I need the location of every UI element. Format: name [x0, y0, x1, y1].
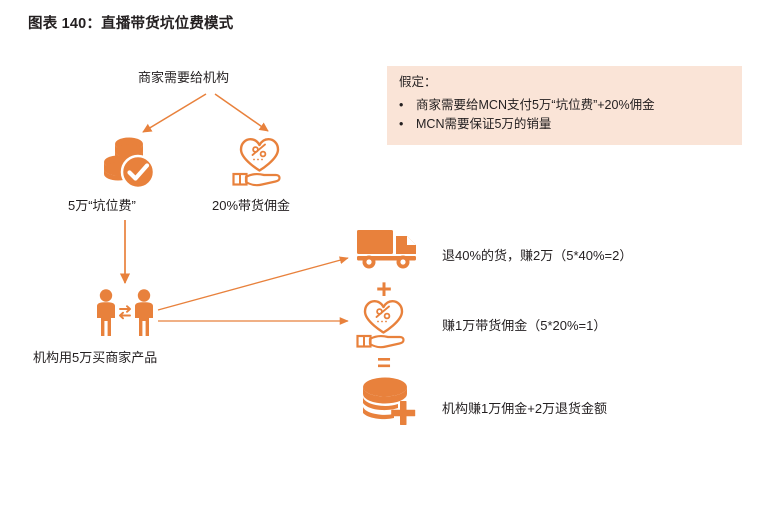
- source-label: 商家需要给机构: [138, 70, 229, 86]
- arrow-agency-to-returns: [158, 258, 348, 310]
- diagram-canvas: 商家需要给机构 5万“坑位费”: [0, 0, 773, 507]
- agency-node-label: 机构用5万买商家产品: [33, 350, 157, 366]
- bullet-icon: •: [399, 116, 416, 133]
- assumption-list-item: • 商家需要给MCN支付5万“坑位费”+20%佣金: [399, 97, 730, 114]
- truck-icon: [355, 226, 419, 274]
- assumption-panel: 假定： • 商家需要给MCN支付5万“坑位费”+20%佣金 • MCN需要保证5…: [387, 66, 742, 145]
- result-text-total: 机构赚1万佣金+2万退货金额: [442, 398, 607, 417]
- assumption-item-text-2: MCN需要保证5万的销量: [416, 116, 551, 133]
- arrow-source-to-fee: [143, 94, 206, 132]
- hand-heart-percent-icon-earned: [352, 296, 416, 354]
- payment-commission-label: 20%带货佣金: [212, 198, 290, 214]
- two-people-exchange-icon: [92, 288, 158, 338]
- coins-check-icon: [98, 133, 160, 191]
- result-text-returns: 退40%的货，赚2万（5*40%=2）: [442, 245, 632, 264]
- assumption-list-item: • MCN需要保证5万的销量: [399, 116, 730, 133]
- payment-fee-label: 5万“坑位费”: [68, 198, 136, 214]
- assumption-item-text-1: 商家需要给MCN支付5万“坑位费”+20%佣金: [416, 97, 655, 114]
- bullet-icon: •: [399, 97, 416, 114]
- arrow-source-to-commission: [215, 94, 268, 131]
- hand-heart-percent-icon: [228, 134, 292, 192]
- result-text-commission: 赚1万带货佣金（5*20%=1）: [442, 315, 606, 334]
- assumption-heading: 假定：: [399, 75, 730, 91]
- coins-plus-icon: [358, 373, 420, 428]
